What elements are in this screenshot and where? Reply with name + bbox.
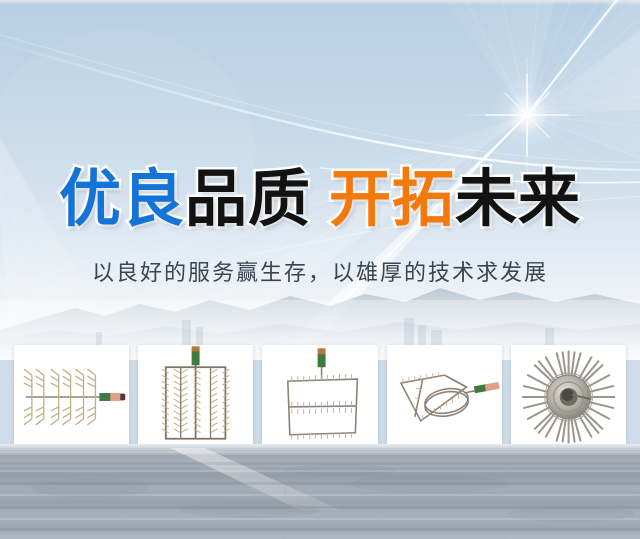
product-card-row <box>14 345 626 449</box>
ground-surface <box>0 448 640 539</box>
headline-part-1: 优良 <box>59 162 185 235</box>
comb-rake-brush-icon <box>14 345 129 449</box>
ground-graphics <box>0 448 640 539</box>
product-card-rectangular-frame-brush[interactable] <box>262 345 377 449</box>
product-card-comb-rake-brush[interactable] <box>14 345 129 449</box>
headline-part-4: 未来 <box>455 162 581 235</box>
product-card-radial-disc-brush[interactable] <box>511 345 626 449</box>
ground-seams <box>285 448 505 539</box>
radial-disc-brush-icon <box>511 345 626 449</box>
ground-texture <box>30 464 635 522</box>
ground-reflection-band <box>170 448 340 510</box>
promo-banner: 优良品质开拓未来 以良好的服务赢生存，以雄厚的技术求发展 <box>0 0 640 539</box>
square-ring-brush-icon <box>387 345 502 449</box>
product-card-double-row-strip-brush[interactable] <box>138 345 253 449</box>
product-card-square-ring-brush[interactable] <box>387 345 502 449</box>
double-row-strip-brush-icon <box>138 345 253 449</box>
subtitle: 以良好的服务赢生存，以雄厚的技术求发展 <box>0 258 640 290</box>
headline: 优良品质开拓未来 <box>0 163 640 235</box>
headline-part-3: 开拓 <box>329 162 455 235</box>
headline-part-2: 品质 <box>185 162 311 235</box>
rectangular-frame-brush-icon <box>262 345 377 449</box>
